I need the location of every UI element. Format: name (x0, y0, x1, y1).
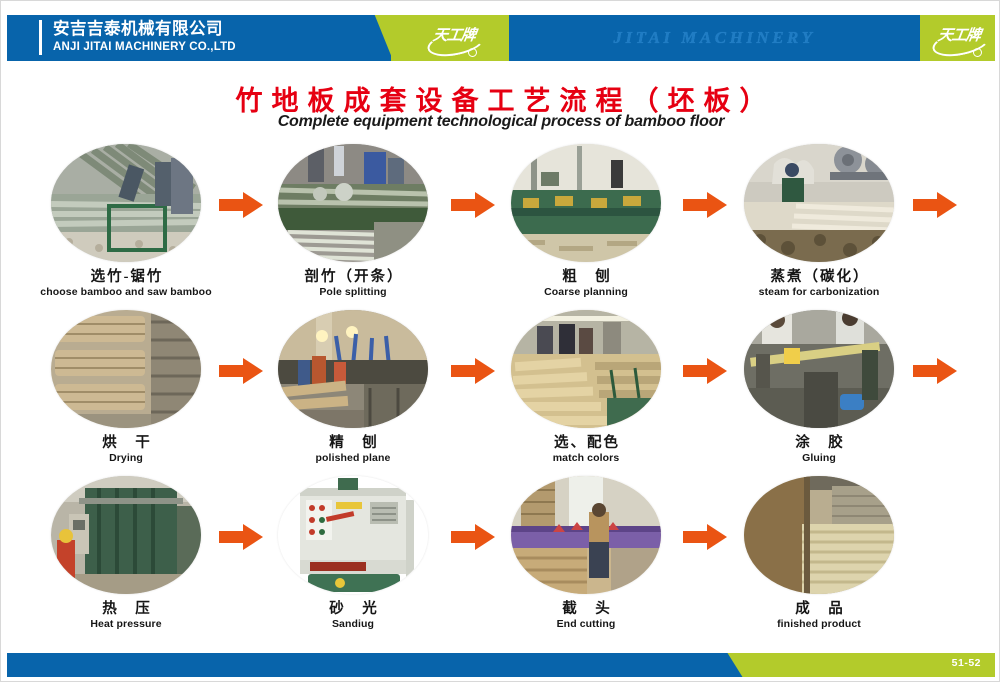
registered-trademark-icon-left (468, 48, 477, 57)
process-step: 精 刨 polished plane (263, 307, 443, 465)
step-caption-cn: 烘 干 (36, 435, 216, 452)
process-flow-row: 热 压 Heat pressure (1, 473, 1000, 639)
step-photo-match-colors (511, 310, 661, 428)
step-caption-cn: 热 压 (36, 601, 216, 618)
process-step: 截 头 End cutting (496, 473, 676, 631)
step-caption-en: match colors (496, 452, 676, 465)
brand-logo-icon-right: 天工牌 (928, 22, 990, 56)
process-step: 砂 光 Sandiug (263, 473, 443, 631)
step-caption-cn: 蒸煮（碳化） (729, 269, 909, 286)
brand-logo-icon-left: 天工牌 (423, 22, 485, 56)
flow-arrow-icon (683, 189, 727, 221)
flow-arrow-icon (219, 521, 263, 553)
process-step: 烘 干 Drying (36, 307, 216, 465)
flow-arrow-icon (219, 189, 263, 221)
step-photo-steam-carbonization (744, 144, 894, 262)
process-step: 热 压 Heat pressure (36, 473, 216, 631)
step-caption-en: Heat pressure (36, 618, 216, 631)
step-photo-heat-pressure (51, 476, 201, 594)
flow-arrow-icon (451, 521, 495, 553)
step-caption-en: Drying (36, 452, 216, 465)
footer-blue-band (7, 653, 727, 677)
registered-trademark-icon-right (973, 48, 982, 57)
process-step: 选竹-锯竹 choose bamboo and saw bamboo (36, 141, 216, 299)
step-caption-en: Coarse planning (496, 286, 676, 299)
page-footer: 51-52 (7, 653, 995, 677)
step-caption-en: polished plane (263, 452, 443, 465)
flow-arrow-icon (451, 355, 495, 387)
step-caption-cn: 选竹-锯竹 (36, 269, 216, 286)
step-photo-end-cutting (511, 476, 661, 594)
step-photo-polished-plane (278, 310, 428, 428)
step-caption-cn: 粗 刨 (496, 269, 676, 286)
step-caption-cn: 砂 光 (263, 601, 443, 618)
step-photo-drying (51, 310, 201, 428)
page-title-en: Complete equipment technological process… (1, 113, 1000, 131)
process-step: 蒸煮（碳化） steam for carbonization (729, 141, 909, 299)
company-name-block: 安吉吉泰机械有限公司 ANJI JITAI MACHINERY CO.,LTD (39, 20, 236, 55)
step-caption-cn: 精 刨 (263, 435, 443, 452)
process-flow-grid: 选竹-锯竹 choose bamboo and saw bamboo (1, 141, 1000, 639)
catalog-page: 安吉吉泰机械有限公司 ANJI JITAI MACHINERY CO.,LTD … (0, 0, 1000, 682)
process-flow-row: 烘 干 Drying (1, 307, 1000, 473)
step-photo-gluing (744, 310, 894, 428)
process-step: 成 品 finished product (729, 473, 909, 631)
brand-wordmark: JITAI MACHINERY (509, 15, 920, 61)
page-header: 安吉吉泰机械有限公司 ANJI JITAI MACHINERY CO.,LTD … (7, 15, 995, 61)
step-photo-pole-splitting (278, 144, 428, 262)
step-photo-choose-bamboo (51, 144, 201, 262)
process-step: 选、配色 match colors (496, 307, 676, 465)
step-caption-cn: 剖竹（开条） (263, 269, 443, 286)
step-caption-en: steam for carbonization (729, 286, 909, 299)
step-caption-en: Pole splitting (263, 286, 443, 299)
step-caption-en: Gluing (729, 452, 909, 465)
step-caption-en: Sandiug (263, 618, 443, 631)
step-photo-coarse-planing (511, 144, 661, 262)
step-photo-finished-product (744, 476, 894, 594)
flow-arrow-icon (451, 189, 495, 221)
step-caption-cn: 涂 胶 (729, 435, 909, 452)
step-caption-cn: 截 头 (496, 601, 676, 618)
company-name-en: ANJI JITAI MACHINERY CO.,LTD (53, 40, 236, 55)
flow-arrow-icon (913, 355, 957, 387)
step-photo-sanding-machine (278, 476, 428, 594)
page-number: 51-52 (952, 657, 981, 669)
flow-arrow-icon (683, 521, 727, 553)
flow-arrow-icon (219, 355, 263, 387)
process-step: 剖竹（开条） Pole splitting (263, 141, 443, 299)
step-caption-cn: 选、配色 (496, 435, 676, 452)
step-caption-en: End cutting (496, 618, 676, 631)
company-name-cn: 安吉吉泰机械有限公司 (53, 20, 236, 39)
step-caption-en: choose bamboo and saw bamboo (36, 286, 216, 299)
process-step: 涂 胶 Gluing (729, 307, 909, 465)
step-caption-en: finished product (729, 618, 909, 631)
flow-arrow-icon (683, 355, 727, 387)
step-caption-cn: 成 品 (729, 601, 909, 618)
flow-arrow-icon (913, 189, 957, 221)
process-step: 粗 刨 Coarse planning (496, 141, 676, 299)
process-flow-row: 选竹-锯竹 choose bamboo and saw bamboo (1, 141, 1000, 307)
